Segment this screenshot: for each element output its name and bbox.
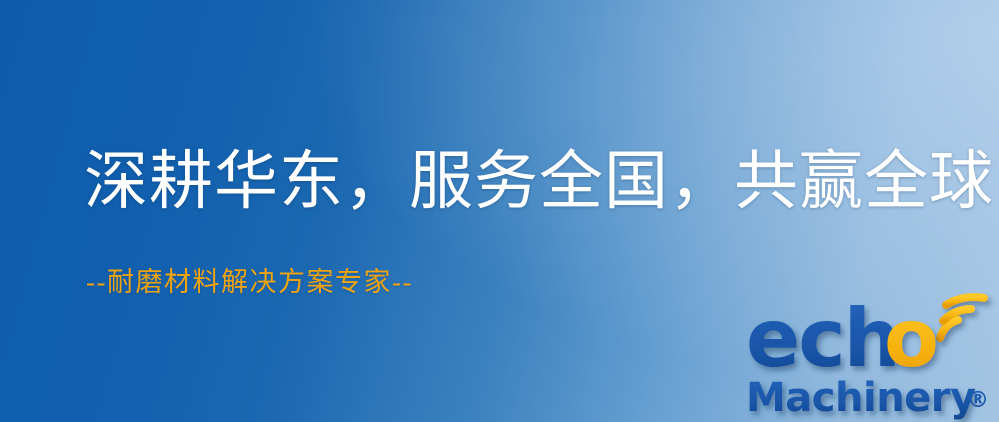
banner-subtitle: --耐磨材料解决方案专家--: [86, 268, 413, 298]
logo-o-mark: o: [884, 292, 939, 385]
promo-banner: 深耕华东，服务全国，共赢全球 --耐磨材料解决方案专家--: [0, 0, 999, 422]
logo-machinery-text: Machinery: [746, 375, 976, 421]
signal-wave-icon: [940, 297, 984, 338]
echo-machinery-logo: ech o Machinery ®: [744, 292, 999, 422]
registered-trademark-icon: ®: [967, 388, 989, 413]
banner-headline: 深耕华东，服务全国，共赢全球: [84, 148, 994, 215]
logo-ech-text: ech: [746, 292, 899, 385]
